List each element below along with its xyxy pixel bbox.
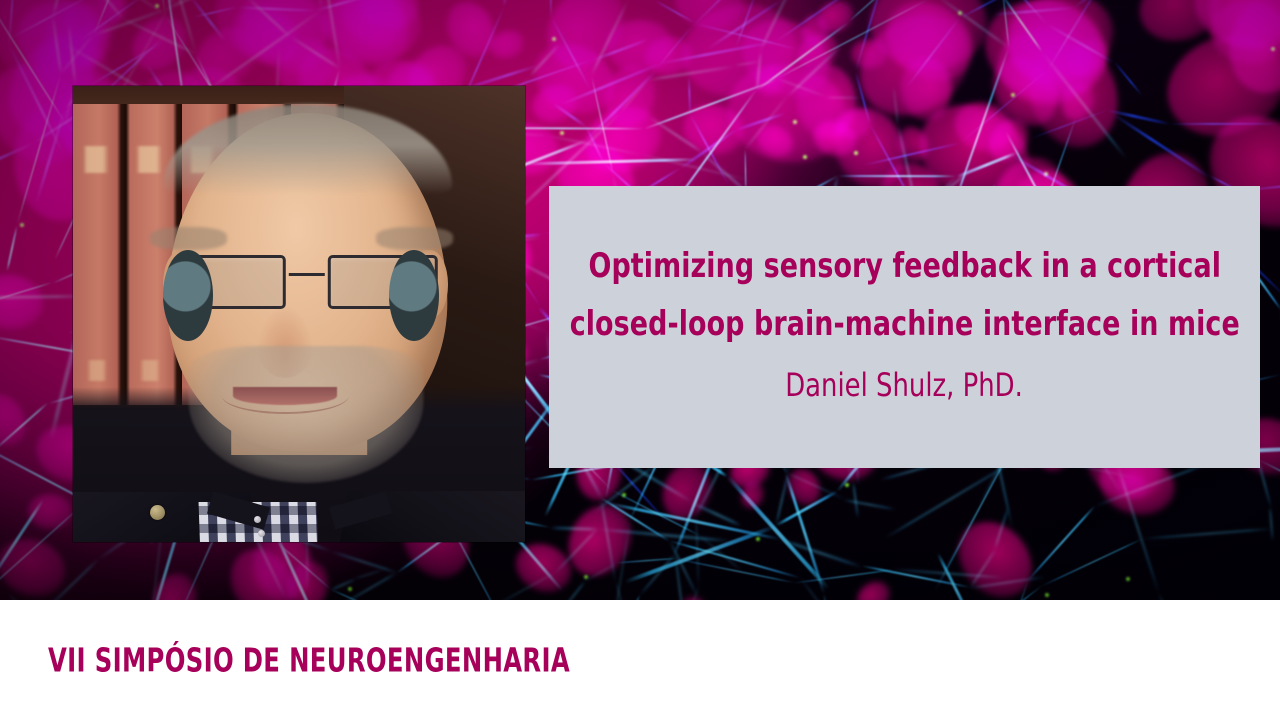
talk-title-line-1: Optimizing sensory feedback in a cortica… — [569, 237, 1239, 295]
slide-root: Optimizing sensory feedback in a cortica… — [0, 0, 1280, 720]
talk-title-card: Optimizing sensory feedback in a cortica… — [549, 186, 1260, 468]
event-title: VII SIMPÓSIO DE NEUROENGENHARIA — [48, 641, 570, 680]
speaker-name: Daniel Shulz, PhD. — [786, 361, 1024, 409]
footer-bar: VII SIMPÓSIO DE NEUROENGENHARIA — [0, 600, 1280, 720]
speaker-eye-right — [389, 250, 439, 341]
speaker-eyebrow-left — [150, 227, 227, 250]
speaker-eye-left — [163, 250, 213, 341]
talk-title-line-2: closed-loop brain-machine interface in m… — [569, 295, 1239, 353]
eyeglass-bridge — [289, 273, 326, 276]
speaker-portrait — [73, 86, 525, 542]
speaker-eyebrow-right — [376, 227, 453, 250]
talk-title: Optimizing sensory feedback in a cortica… — [569, 237, 1239, 354]
